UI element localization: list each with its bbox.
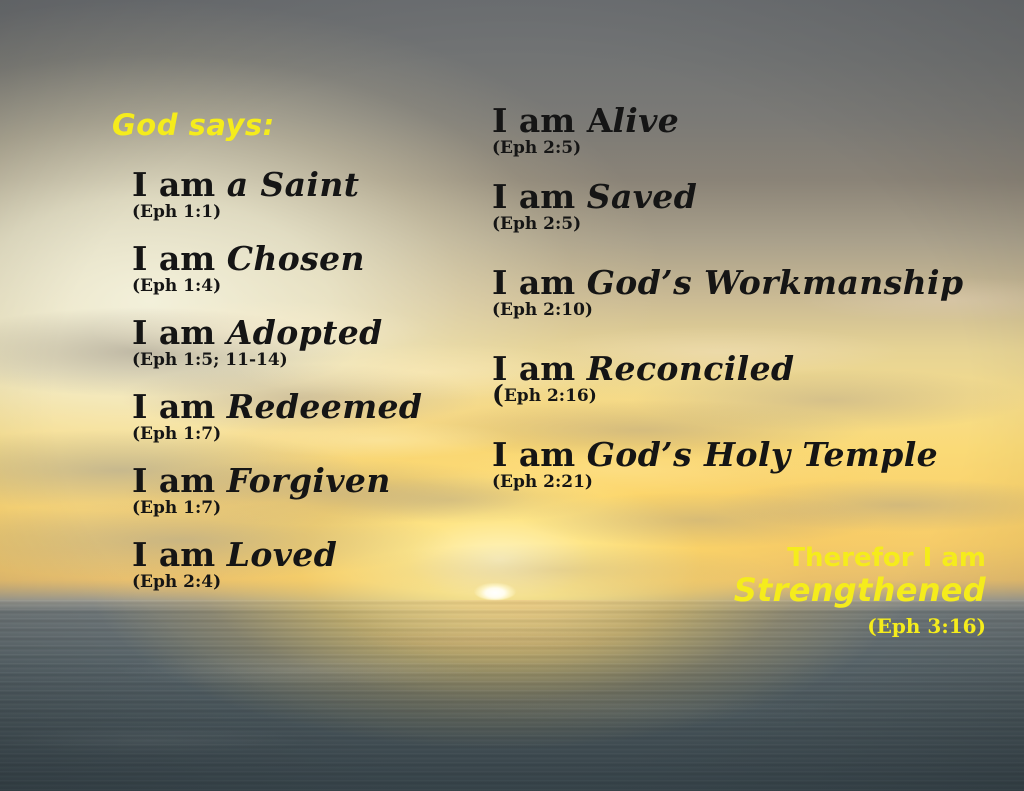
statement-prefix: I am: [492, 349, 587, 388]
scripture-reference: (Eph 1:4): [132, 278, 462, 295]
statement-entry: I am Forgiven (Eph 1:7): [132, 464, 462, 534]
scripture-reference: (Eph 2:21): [492, 474, 992, 491]
right-statement-column: I am Alive (Eph 2:5) I am Saved (Eph 2:5…: [492, 104, 992, 524]
statement-prefix: I am: [132, 461, 227, 500]
statement-emphasis: Adopted: [227, 313, 383, 352]
statement-entry: I am Alive (Eph 2:5): [492, 104, 992, 176]
scripture-reference: (Eph 2:5): [492, 216, 992, 233]
statement-line: I am Redeemed: [132, 390, 462, 424]
statement-emphasis: Redeemed: [227, 387, 423, 426]
closing-line-therefor: Therefor I am: [734, 544, 986, 573]
statement-emphasis: Saved: [587, 177, 697, 216]
scripture-reference: (Eph 2:10): [492, 302, 992, 319]
statement-prefix: I am: [132, 387, 227, 426]
closing-line-strengthened: Strengthened: [734, 573, 986, 609]
scripture-reference: (Eph 1:7): [132, 500, 462, 517]
statement-emphasis: God’s Workmanship: [587, 263, 964, 302]
statement-entry: I am Reconciled (Eph 2:16): [492, 352, 992, 434]
statement-prefix: I am: [132, 535, 227, 574]
statement-prefix: I am: [132, 165, 227, 204]
closing-scripture-reference: (Eph 3:16): [734, 613, 986, 639]
statement-line: I am God’s Holy Temple: [492, 438, 992, 472]
scripture-reference: (Eph 2:5): [492, 140, 992, 157]
god-says-heading: God says:: [112, 108, 275, 142]
statement-prefix: I am: [492, 435, 587, 474]
statement-entry: I am a Saint (Eph 1:1): [132, 168, 462, 238]
statement-line: I am Forgiven: [132, 464, 462, 498]
statement-entry: I am Saved (Eph 2:5): [492, 180, 992, 262]
statement-entry: I am God’s Holy Temple (Eph 2:21): [492, 438, 992, 520]
statement-prefix: I am: [492, 263, 587, 302]
statement-emphasis: a Saint: [227, 165, 360, 204]
statement-prefix: I am: [132, 239, 227, 278]
statement-entry: I am God’s Workmanship (Eph 2:10): [492, 266, 992, 348]
sunset-scripture-slide: God says: I am a Saint (Eph 1:1) I am Ch…: [0, 0, 1024, 791]
statement-prefix: I am A: [492, 101, 612, 140]
statement-line: I am Loved: [132, 538, 462, 572]
scripture-reference: (Eph 2:16): [492, 388, 992, 405]
statement-line: I am Adopted: [132, 316, 462, 350]
statement-entry: I am Redeemed (Eph 1:7): [132, 390, 462, 460]
statement-line: I am Alive: [492, 104, 992, 138]
statement-emphasis: Forgiven: [227, 461, 391, 500]
scripture-reference: (Eph 1:7): [132, 426, 462, 443]
statement-entry: I am Chosen (Eph 1:4): [132, 242, 462, 312]
statement-entry: I am Adopted (Eph 1:5; 11-14): [132, 316, 462, 386]
scripture-reference-text: Eph 2:16): [504, 386, 597, 406]
statement-line: I am Saved: [492, 180, 992, 214]
statement-emphasis: Loved: [227, 535, 337, 574]
closing-statement-block: Therefor I am Strengthened (Eph 3:16): [734, 544, 986, 639]
scripture-reference: (Eph 1:5; 11-14): [132, 352, 462, 369]
statement-emphasis: Reconciled: [587, 349, 795, 388]
statement-line: I am a Saint: [132, 168, 462, 202]
statement-emphasis: Chosen: [227, 239, 365, 278]
statement-emphasis: God’s Holy Temple: [587, 435, 938, 474]
oversized-open-paren: (: [492, 380, 504, 409]
scripture-reference: (Eph 1:1): [132, 204, 462, 221]
statement-line: I am God’s Workmanship: [492, 266, 992, 300]
statement-line: I am Reconciled: [492, 352, 992, 386]
statement-prefix: I am: [132, 313, 227, 352]
statement-entry: I am Loved (Eph 2:4): [132, 538, 462, 608]
statement-prefix: I am: [492, 177, 587, 216]
left-statement-column: I am a Saint (Eph 1:1) I am Chosen (Eph …: [132, 168, 462, 612]
statement-line: I am Chosen: [132, 242, 462, 276]
statement-emphasis: live: [612, 101, 679, 140]
scripture-reference: (Eph 2:4): [132, 574, 462, 591]
